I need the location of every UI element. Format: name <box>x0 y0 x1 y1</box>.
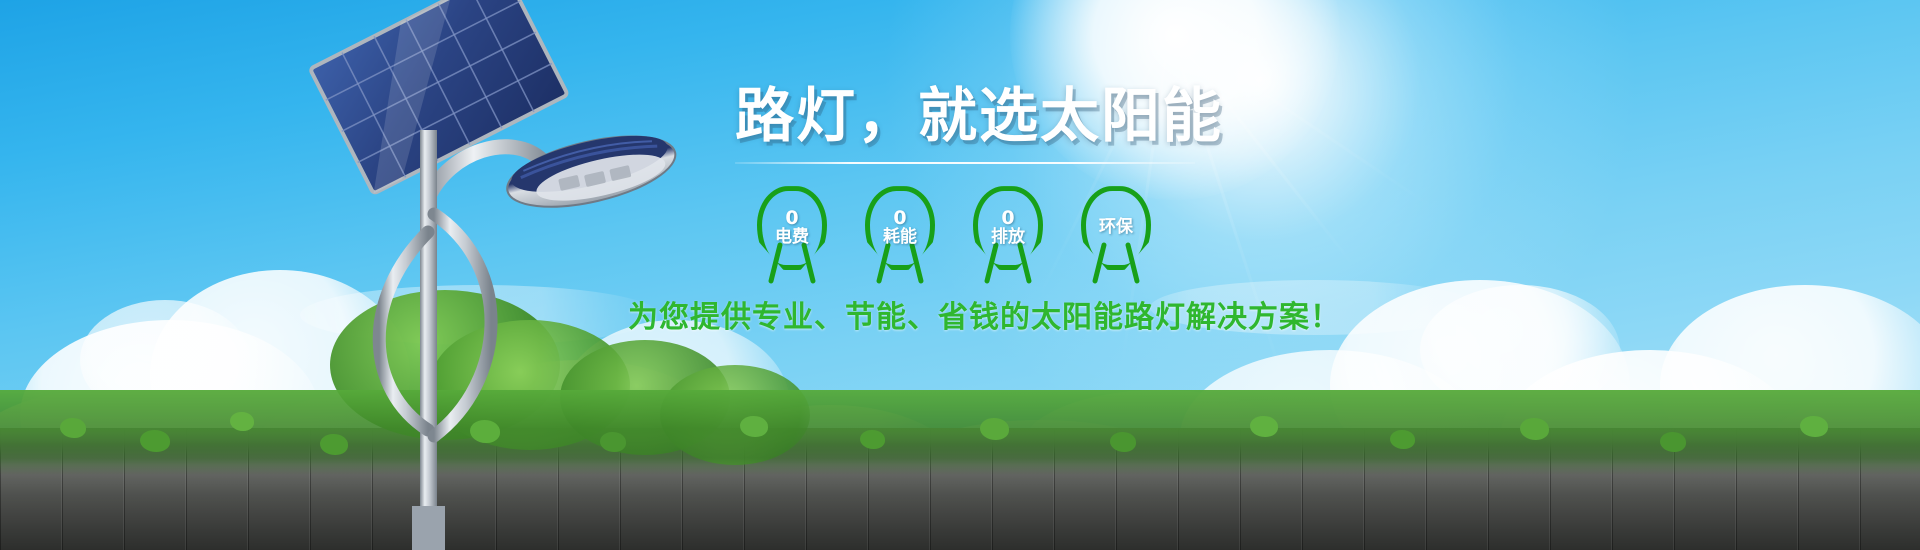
feature-badge: 环保 <box>1081 186 1151 270</box>
feature-badge: 0 排放 <box>973 186 1043 270</box>
badge-label: 电费 <box>775 228 809 247</box>
feature-badge: 0 电费 <box>757 186 827 270</box>
copy-block: 路灯，就选太阳能 0 电费 0 耗能 0 排放 <box>735 86 1255 270</box>
badge-label: 排放 <box>991 228 1025 247</box>
headline: 路灯，就选太阳能 <box>735 86 1255 146</box>
badge-label: 环保 <box>1099 218 1133 237</box>
solar-street-light <box>300 0 730 550</box>
solar-street-light-banner: 路灯，就选太阳能 0 电费 0 耗能 0 排放 <box>0 0 1920 550</box>
badge-number: 0 <box>893 209 906 229</box>
tagline: 为您提供专业、节能、省钱的太阳能路灯解决方案！ <box>628 292 1341 336</box>
badge-label: 耗能 <box>883 228 917 247</box>
headline-divider <box>735 162 1195 164</box>
feature-badge: 0 耗能 <box>865 186 935 270</box>
wall-coping <box>0 428 1920 454</box>
badge-number: 0 <box>1001 209 1014 229</box>
feature-badge-list: 0 电费 0 耗能 0 排放 环保 <box>735 186 1255 270</box>
badge-number: 0 <box>785 209 798 229</box>
